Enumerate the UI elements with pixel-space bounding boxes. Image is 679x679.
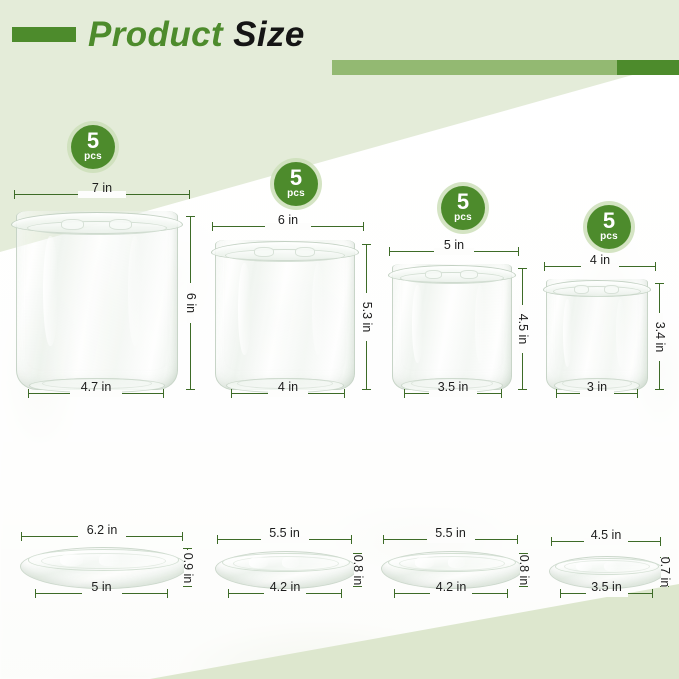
dim-height-cup-1: 6 in xyxy=(186,216,195,390)
dim-bottom-saucer-4: 3.5 in xyxy=(560,589,653,598)
dim-top-cup-4: 4 in xyxy=(544,262,656,271)
badge-pcs-cup-3: 5 pcs xyxy=(441,186,485,230)
dim-height-label-saucer-3: 0.8 in xyxy=(517,555,531,586)
cup-1 xyxy=(16,212,176,390)
dim-bottom-label-saucer-2: 4.2 in xyxy=(265,580,306,594)
dim-top-label-cup-1: 7 in xyxy=(87,181,117,195)
dim-bottom-cup-1: 4.7 in xyxy=(28,389,164,398)
cup-4 xyxy=(546,280,646,390)
dim-top-label-saucer-2: 5.5 in xyxy=(264,526,305,540)
dim-bottom-label-saucer-4: 3.5 in xyxy=(586,580,627,594)
dim-top-label-saucer-4: 4.5 in xyxy=(586,528,627,542)
dim-bottom-label-saucer-3: 4.2 in xyxy=(431,580,472,594)
dim-top-label-saucer-3: 5.5 in xyxy=(430,526,471,540)
badge-unit: pcs xyxy=(274,189,318,199)
dim-height-label-cup-4: 3.4 in xyxy=(653,321,667,352)
dim-height-saucer-1: 0.9 in xyxy=(183,548,192,587)
dim-bottom-saucer-2: 4.2 in xyxy=(228,589,342,598)
badge-pcs-cup-4: 5 pcs xyxy=(587,205,631,249)
dim-bottom-saucer-3: 4.2 in xyxy=(394,589,508,598)
dim-bottom-cup-3: 3.5 in xyxy=(404,389,502,398)
title-accent-bar xyxy=(12,27,76,42)
badge-unit: pcs xyxy=(441,213,485,223)
dim-bottom-label-cup-3: 3.5 in xyxy=(433,380,474,394)
badge-unit: pcs xyxy=(587,232,631,242)
dim-height-label-cup-3: 4.5 in xyxy=(516,314,530,345)
badge-pcs-cup-1: 5 pcs xyxy=(71,125,115,169)
dim-top-cup-2: 6 in xyxy=(212,222,364,231)
dim-top-cup-3: 5 in xyxy=(389,247,519,256)
dim-bottom-saucer-1: 5 in xyxy=(35,589,168,598)
dim-height-label-saucer-2: 0.8 in xyxy=(351,555,365,586)
dim-bottom-label-cup-1: 4.7 in xyxy=(76,380,117,394)
badge-unit: pcs xyxy=(71,152,115,162)
dim-height-cup-4: 3.4 in xyxy=(655,283,664,390)
dim-top-saucer-4: 4.5 in xyxy=(551,537,661,546)
badge-count: 5 xyxy=(71,125,115,152)
dim-height-saucer-3: 0.8 in xyxy=(519,553,528,587)
cup-3 xyxy=(392,265,510,390)
badge-pcs-cup-2: 5 pcs xyxy=(274,162,318,206)
header-rule-dark xyxy=(617,60,679,75)
dim-bottom-label-cup-4: 3 in xyxy=(582,380,612,394)
dim-height-label-cup-1: 6 in xyxy=(184,293,198,313)
dim-height-saucer-4: 0.7 in xyxy=(660,557,669,587)
dim-top-cup-1: 7 in xyxy=(14,190,190,199)
dim-height-label-saucer-1: 0.9 in xyxy=(181,552,195,583)
page-title: Product Size xyxy=(88,14,305,56)
dim-bottom-label-cup-2: 4 in xyxy=(273,380,303,394)
dim-top-label-saucer-1: 6.2 in xyxy=(82,523,123,537)
dim-top-label-cup-2: 6 in xyxy=(273,213,303,227)
dim-top-saucer-3: 5.5 in xyxy=(383,535,518,544)
dim-top-label-cup-3: 5 in xyxy=(439,238,469,252)
dim-top-saucer-2: 5.5 in xyxy=(217,535,352,544)
product-size-infographic: Product Size 5 pcs 7 in 6 in 4.7 in 5 xyxy=(0,0,679,679)
dim-bottom-cup-2: 4 in xyxy=(231,389,345,398)
badge-count: 5 xyxy=(441,186,485,213)
dim-top-label-cup-4: 4 in xyxy=(585,253,615,267)
page-title-word-size: Size xyxy=(233,15,305,54)
cup-2 xyxy=(215,241,353,390)
dim-height-label-cup-2: 5.3 in xyxy=(360,302,374,333)
dim-bottom-cup-4: 3 in xyxy=(556,389,638,398)
dim-height-cup-2: 5.3 in xyxy=(362,244,371,390)
dim-height-cup-3: 4.5 in xyxy=(518,268,527,390)
badge-count: 5 xyxy=(587,205,631,232)
dim-height-saucer-2: 0.8 in xyxy=(353,553,362,587)
dim-height-label-saucer-4: 0.7 in xyxy=(658,557,672,588)
dim-bottom-label-saucer-1: 5 in xyxy=(86,580,116,594)
page-title-word-product: Product xyxy=(88,15,223,54)
dim-top-saucer-1: 6.2 in xyxy=(21,532,183,541)
badge-count: 5 xyxy=(274,162,318,189)
